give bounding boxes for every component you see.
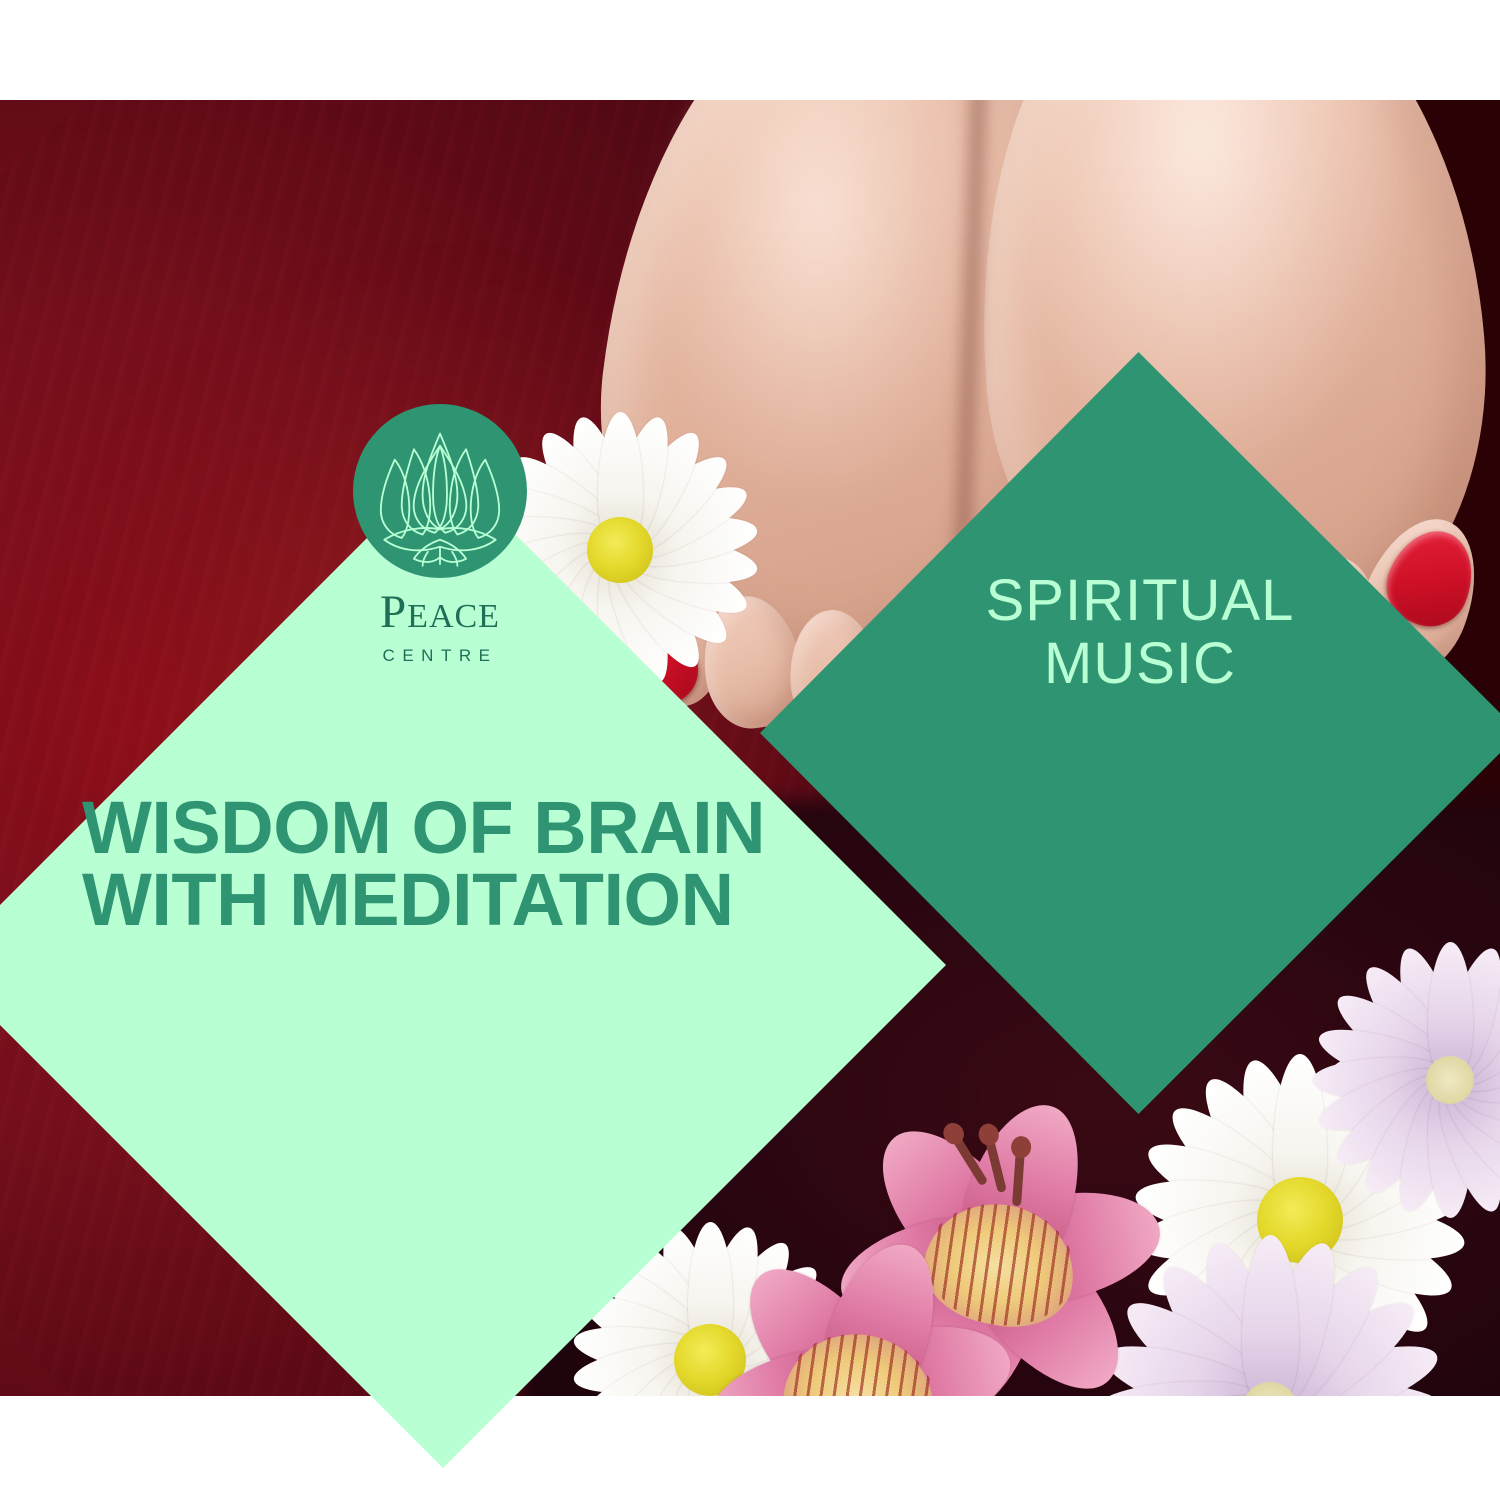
brand-logo: PEACE CENTRE bbox=[352, 404, 528, 664]
brand-name: PEACE bbox=[352, 589, 528, 636]
brand-name-initial: P bbox=[380, 586, 407, 638]
album-cover: PEACE CENTRE WISDOM OF BRAIN WITH MEDITA… bbox=[0, 0, 1500, 1500]
album-title: WISDOM OF BRAIN WITH MEDITATION bbox=[82, 792, 842, 936]
brand-name-rest: EACE bbox=[407, 598, 500, 635]
petal bbox=[1242, 1235, 1299, 1396]
album-category: SPIRITUAL MUSIC bbox=[900, 570, 1380, 695]
album-title-line-1: WISDOM OF BRAIN bbox=[82, 792, 842, 864]
daisy-core bbox=[1426, 1056, 1474, 1104]
pink-alstroemeria bbox=[700, 1240, 1020, 1396]
album-category-line-1: SPIRITUAL bbox=[900, 570, 1380, 633]
mauve-chrysanthemum bbox=[1300, 930, 1500, 1230]
lotus-flower-icon bbox=[353, 404, 527, 578]
daisy-core bbox=[587, 517, 653, 583]
brand-subtitle: CENTRE bbox=[352, 646, 528, 666]
album-category-line-2: MUSIC bbox=[900, 633, 1380, 696]
album-title-line-2: WITH MEDITATION bbox=[82, 864, 842, 936]
